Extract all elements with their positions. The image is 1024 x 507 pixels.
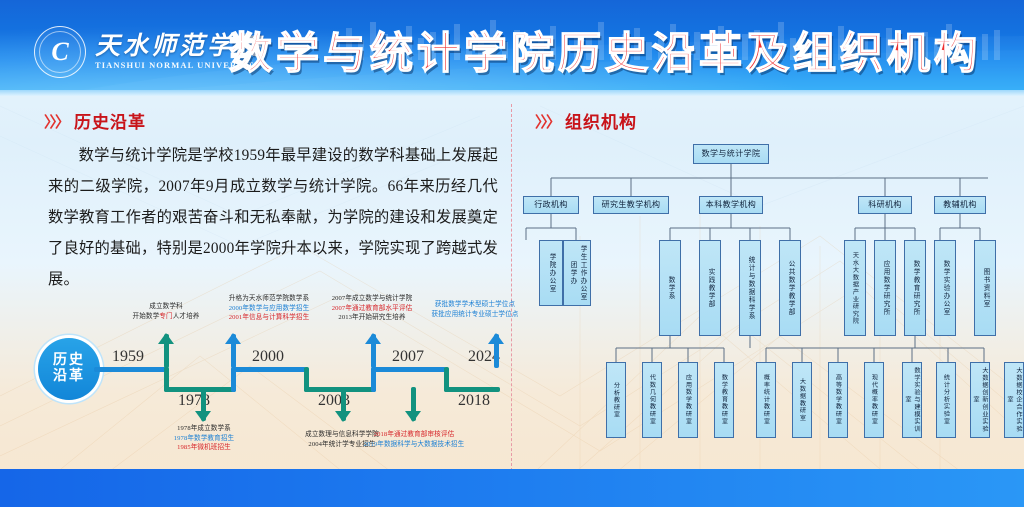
org-box-root: 数学与统计学院 — [693, 144, 769, 164]
section-title-history: 历史沿革 — [74, 114, 146, 131]
org-box-level2-library-resource-room: 图书资料室 — [974, 240, 996, 336]
org-box-level3-math-education-section: 数学教育教研室 — [714, 362, 734, 438]
org-box-level3-big-data-section: 大数据教研室 — [792, 362, 812, 438]
timeline-note-1978: 1978年成立数学系 1978年数学教育招生 1985年微机班招生 — [152, 424, 256, 453]
timeline-year-1959: 1959 — [112, 348, 144, 366]
org-box-level1-research: 科研机构 — [858, 196, 912, 214]
timeline-axis-seg-1 — [94, 367, 166, 372]
organization-chart: 数学与统计学院 行政机构 研究生教学机构 本科教学机构 科研机构 教辅机构 学院… — [518, 136, 1022, 466]
timeline-badge: 历史 沿革 — [38, 338, 100, 400]
org-box-level2-math-lab-office: 数学实验办公室 — [934, 240, 956, 336]
org-box-level3-big-data-innovation-lab: 大数据创新创业实验室 — [970, 362, 990, 438]
timeline-note-1978-line2: 1978年数学教育招生 — [152, 434, 256, 444]
timeline-arrow-down-2003 — [341, 387, 346, 421]
timeline-year-2018: 2018 — [458, 392, 490, 410]
timeline-axis-seg-3 — [234, 367, 306, 372]
timeline-arrow-up-2024 — [494, 334, 499, 368]
timeline-badge-line1: 历史 — [53, 353, 85, 369]
page-title: 数学与统计学院历史沿革及组织机构 — [240, 20, 970, 80]
org-box-level2-math-education-institute: 数学教育研究所 — [904, 240, 926, 336]
chevron-right-icon: 〉〉〉 — [535, 115, 559, 130]
org-box-level2-mathematics-department: 数学系 — [659, 240, 681, 336]
timeline-arrow-down-1978 — [201, 387, 206, 421]
history-paragraph: 数学与统计学院是学校1959年最早建设的数学科基础上发展起来的二级学院，2007… — [48, 140, 498, 295]
org-box-level2-statistics-data-science-dept: 统计与数据科学系 — [739, 240, 761, 336]
poster-canvas: C 天水师范学院 TIANSHUI NORMAL UNIVERSITY 数学与统… — [0, 0, 1024, 507]
timeline-year-2000: 2000 — [252, 348, 284, 366]
timeline-note-1978-line1: 1978年成立数学系 — [152, 424, 256, 434]
org-box-level1-undergraduate-teaching: 本科教学机构 — [699, 196, 763, 214]
history-timeline: 历史 沿革 1959 1978 2000 2003 2007 2018 2024 — [16, 292, 512, 452]
poster-header: C 天水师范学院 TIANSHUI NORMAL UNIVERSITY 数学与统… — [0, 0, 1024, 96]
timeline-year-2007: 2007 — [392, 348, 424, 366]
org-box-level1-administration: 行政机构 — [523, 196, 579, 214]
seal-mark: C — [51, 39, 68, 65]
timeline-arrow-up-2000 — [231, 334, 236, 368]
timeline-riser-5 — [444, 367, 449, 392]
org-box-level3-algebra-geometry-section: 代数几何教研室 — [642, 362, 662, 438]
timeline-axis-seg-5 — [374, 367, 446, 372]
org-box-level3-math-modeling-lab: 数学实验与建模实训室 — [902, 362, 922, 438]
timeline-note-2018-line2: 2019年数据科学与大数据技术招生 — [346, 440, 482, 450]
org-box-level3-statistical-analysis-lab: 统计分析实验室 — [936, 362, 956, 438]
timeline-note-2018: 2018年通过教育部审核评估 2019年数据科学与大数据技术招生 — [346, 430, 482, 449]
org-box-level3-analysis-section: 分析教研室 — [606, 362, 626, 438]
org-box-level1-teaching-support: 教辅机构 — [934, 196, 986, 214]
timeline-note-1959-line1: 成立数学科 — [114, 302, 218, 312]
timeline-note-1959: 成立数学科 开始数学专门人才培养 — [114, 302, 218, 321]
timeline-note-1959-line2: 开始数学专门人才培养 — [114, 312, 218, 322]
org-box-level3-modern-probability-section: 现代概率教研室 — [864, 362, 884, 438]
section-header-history: 〉〉〉 历史沿革 — [44, 114, 146, 131]
section-header-org: 〉〉〉 组织机构 — [535, 114, 637, 131]
timeline-arrow-up-2007 — [371, 334, 376, 368]
org-box-level3-applied-math-section: 应用数学教研室 — [678, 362, 698, 438]
timeline-arrow-down-2018 — [411, 387, 416, 421]
timeline-note-2018-line1: 2018年通过教育部审核评估 — [346, 430, 482, 440]
org-box-level3-probability-statistics-section: 概率统计教研室 — [756, 362, 776, 438]
org-box-level2-public-math-teaching-dept: 公共数学教学部 — [779, 240, 801, 336]
org-box-level3-big-data-enterprise-lab: 大数据校企合作实验室 — [1004, 362, 1024, 438]
org-box-level1-graduate-teaching: 研究生教学机构 — [593, 196, 669, 214]
org-box-level3-advanced-math-section: 高等数学教研室 — [828, 362, 848, 438]
org-box-level2-practice-teaching-dept: 实践教学部 — [699, 240, 721, 336]
org-box-level2-college-office: 学院办公室 — [539, 240, 563, 306]
timeline-note-1978-line3: 1985年微机班招生 — [152, 443, 256, 453]
poster-footer-bar — [0, 469, 1024, 507]
org-box-level2-big-data-institute: 天水大数据产业研究院 — [844, 240, 866, 336]
chevron-right-icon: 〉〉〉 — [44, 115, 68, 130]
org-box-level2-student-affairs-office: 学生工作办公室团学办 — [563, 240, 591, 306]
timeline-badge-line2: 沿革 — [53, 369, 85, 385]
section-title-org: 组织机构 — [565, 114, 637, 131]
timeline-riser-2 — [231, 367, 236, 392]
timeline-riser-3 — [304, 367, 309, 392]
timeline-riser-4 — [371, 367, 376, 392]
timeline-arrow-up-1959 — [164, 334, 169, 368]
timeline-riser-1 — [164, 367, 169, 392]
org-box-level2-applied-math-institute: 应用数学研究所 — [874, 240, 896, 336]
university-seal-icon: C — [34, 26, 86, 78]
